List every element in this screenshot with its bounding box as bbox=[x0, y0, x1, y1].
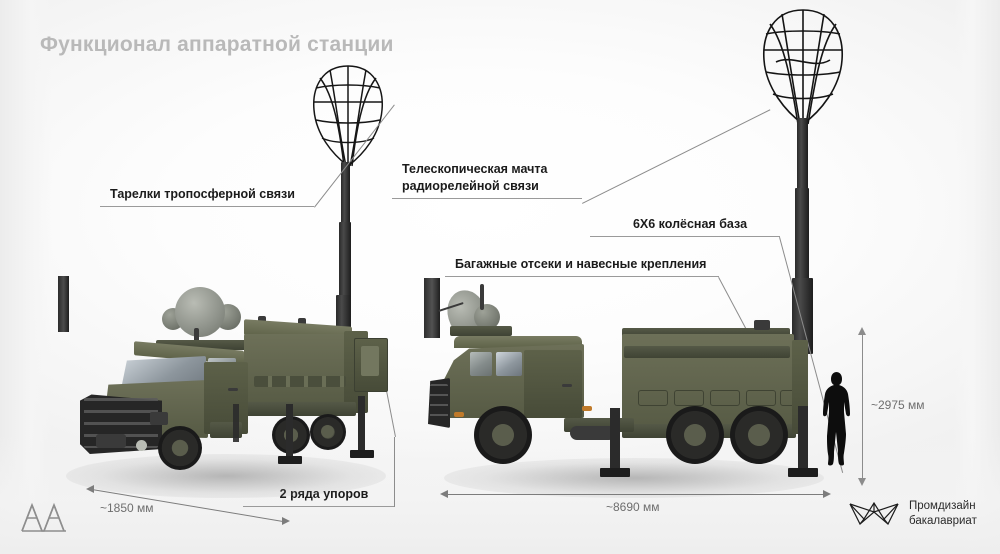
exhaust-stack bbox=[424, 278, 440, 338]
leader-line-telescopic-mast bbox=[582, 109, 770, 204]
door-handle bbox=[228, 388, 238, 391]
vehicle-left-three-quarter-view bbox=[58, 276, 408, 500]
dimension-line-overall-length bbox=[445, 494, 826, 495]
brand-line-1: Промдизайн bbox=[909, 499, 977, 514]
front-marker-lamp bbox=[454, 412, 464, 417]
luggage-hatch-3 bbox=[710, 390, 740, 406]
outrigger-front bbox=[610, 408, 620, 470]
headlight-left bbox=[150, 412, 168, 425]
box-body-upper-band bbox=[624, 346, 790, 358]
antenna-platform bbox=[450, 326, 512, 336]
brand-line-2: бакалавриат bbox=[909, 514, 977, 529]
callout-wheelbase: 6X6 колёсная база bbox=[590, 216, 780, 237]
slide-canvas: Функционал аппаратной станции bbox=[0, 0, 1000, 554]
brand-lockup: Промдизайн бакалавриат bbox=[848, 497, 977, 531]
callout-underline bbox=[392, 198, 582, 199]
cab-door bbox=[524, 350, 582, 418]
dimension-label-1850: ~1850 мм bbox=[100, 501, 154, 515]
callout-underline bbox=[590, 236, 780, 237]
outrigger-foot-rear-left bbox=[350, 450, 374, 458]
exhaust-stack bbox=[58, 276, 69, 332]
mast-segment-mid bbox=[795, 188, 809, 284]
troposcatter-dish bbox=[175, 287, 225, 337]
callout-underline bbox=[100, 206, 314, 207]
outrigger-mid bbox=[233, 404, 239, 442]
dimension-arrow-left-1850 bbox=[86, 485, 94, 493]
wheel-hub-rear bbox=[321, 425, 334, 438]
fog-lamp bbox=[136, 440, 147, 451]
origami-w-logo bbox=[848, 497, 900, 531]
callout-telescopic-mast: Телескопическая мачта радиорелейной связ… bbox=[392, 161, 582, 199]
roof-box bbox=[754, 320, 770, 330]
vehicle-shadow bbox=[66, 454, 386, 498]
callout-troposcatter-dishes: Тарелки тропосферной связи bbox=[100, 186, 314, 207]
luggage-hatch-2 bbox=[674, 390, 704, 406]
callout-wheelbase-line1: 6X6 колёсная база bbox=[590, 216, 780, 236]
human-scale-silhouette bbox=[820, 372, 854, 476]
callout-underline bbox=[243, 506, 395, 507]
dimension-line-overall-height bbox=[862, 333, 863, 481]
vehicle-shadow bbox=[444, 458, 824, 498]
callout-troposcatter-dishes-line1: Тарелки тропосферной связи bbox=[100, 186, 314, 206]
luggage-hatch-row bbox=[254, 376, 346, 387]
callout-luggage-compartments: Багажные отсеки и навесные крепления bbox=[445, 256, 719, 277]
dimension-label-8690: ~8690 мм bbox=[606, 500, 660, 514]
dimension-label-2975: ~2975 мм bbox=[871, 398, 925, 412]
dimension-arrow-left-8690 bbox=[440, 490, 448, 498]
cabinet-panel bbox=[361, 346, 379, 376]
outrigger-foot-front bbox=[600, 468, 630, 477]
wheel-hub-front bbox=[492, 424, 514, 446]
outrigger-rear bbox=[798, 406, 808, 470]
cab-window-front bbox=[470, 352, 492, 376]
antenna-mast-stub bbox=[480, 284, 484, 310]
outrigger-foot-front-left bbox=[278, 456, 302, 464]
cab-window-rear bbox=[496, 352, 522, 376]
m-monogram-logo bbox=[18, 500, 70, 536]
dimension-arrow-right-8690 bbox=[823, 490, 831, 498]
vehicle-right-side-view bbox=[424, 278, 844, 502]
callout-underline bbox=[445, 276, 719, 277]
callout-telescopic-mast-line2: радиорелейной связи bbox=[392, 178, 582, 198]
dimension-arrow-up-2975 bbox=[858, 327, 866, 335]
outrigger-front-left bbox=[286, 404, 293, 458]
luggage-hatch-1 bbox=[638, 390, 668, 406]
mast-segment-top bbox=[797, 118, 808, 194]
box-body-lower-skirt bbox=[246, 402, 356, 416]
dimension-arrow-down-2975 bbox=[858, 478, 866, 486]
luggage-hatch-4 bbox=[746, 390, 776, 406]
winch bbox=[96, 434, 126, 448]
bull-bar-rails bbox=[430, 384, 448, 422]
callout-luggage-line1: Багажные отсеки и навесные крепления bbox=[445, 256, 719, 276]
dimension-arrow-right-1850 bbox=[282, 517, 290, 525]
box-body-side bbox=[244, 334, 356, 410]
page-title: Функционал аппаратной станции bbox=[40, 33, 394, 57]
side-marker-lamp bbox=[582, 406, 592, 411]
outrigger-rear-left bbox=[358, 396, 365, 452]
wheel-hub-mid bbox=[684, 424, 706, 446]
outrigger-foot-rear bbox=[788, 468, 818, 477]
door-handle bbox=[562, 384, 572, 387]
wheel-hub-front bbox=[172, 440, 188, 456]
wheel-hub-rear bbox=[748, 424, 770, 446]
